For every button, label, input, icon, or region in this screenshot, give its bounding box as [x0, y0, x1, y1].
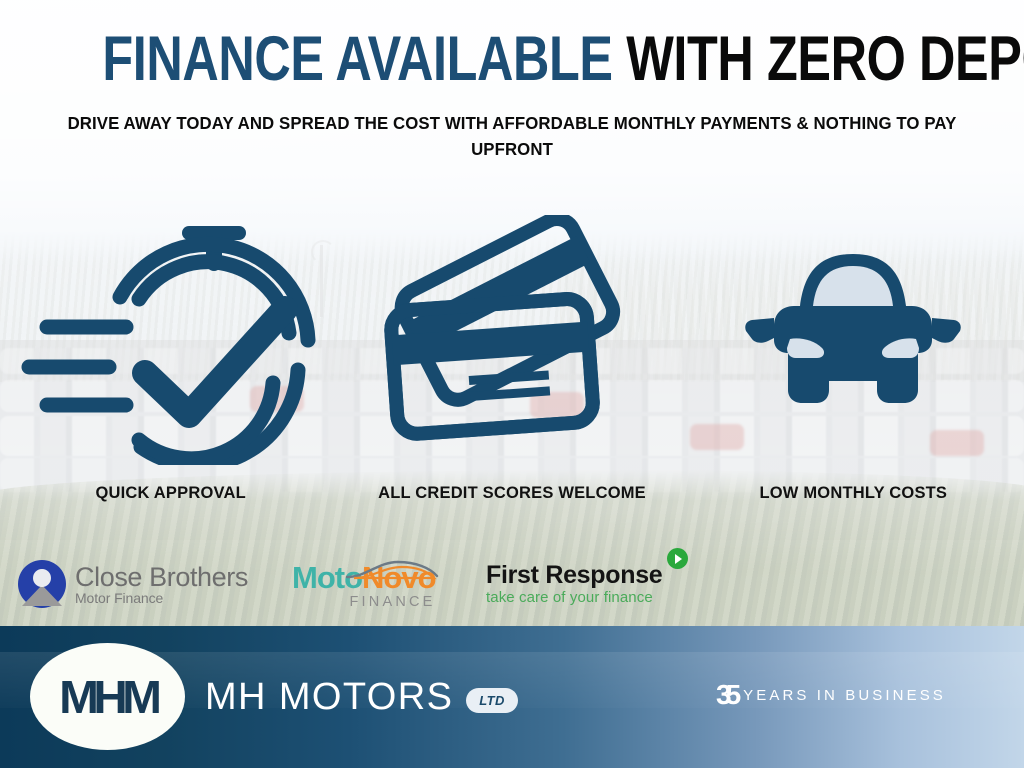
partner-name: First Response — [486, 561, 662, 589]
feature-low-monthly-costs: LOW MONTHLY COSTS — [683, 210, 1024, 503]
partner-name: Close Brothers — [75, 563, 248, 591]
finance-partner-logos: Close Brothers Motor Finance MotoNovo FI… — [0, 556, 1024, 622]
partner-subtitle: take care of your finance — [486, 589, 653, 606]
headline-secondary: WITH ZERO DEPOSIT — [626, 24, 1024, 94]
partner-subtitle: FINANCE — [349, 594, 435, 610]
stopwatch-check-icon — [21, 210, 321, 470]
mhm-monogram: MHM — [59, 670, 156, 724]
feature-list: QUICK APPROVAL — [0, 210, 1024, 503]
first-response-logo: First Response take care of your finance — [486, 562, 662, 606]
close-brothers-logo: Close Brothers Motor Finance — [18, 560, 248, 608]
feature-quick-approval: QUICK APPROVAL — [0, 210, 341, 503]
partner-subtitle: Motor Finance — [75, 591, 248, 606]
subheadline: DRIVE AWAY TODAY AND SPREAD THE COST WIT… — [42, 110, 983, 162]
credit-cards-icon — [372, 210, 652, 470]
feature-all-credit-scores: ALL CREDIT SCORES WELCOME — [341, 210, 682, 503]
mhm-oval-logo: MHM — [30, 643, 185, 750]
motonovo-car-swoosh-icon — [344, 558, 440, 582]
years-in-business: 35 YEARS IN BUSINESS — [716, 681, 946, 709]
years-label: YEARS IN BUSINESS — [743, 687, 946, 704]
car-front-icon — [738, 210, 968, 470]
ltd-badge: LTD — [466, 688, 518, 713]
feature-label: LOW MONTHLY COSTS — [759, 484, 947, 503]
headline: FINANCE AVAILABLE WITH ZERO DEPOSIT — [102, 28, 921, 91]
motonovo-logo: MotoNovo FINANCE — [292, 562, 436, 610]
ltd-badge-label: LTD — [479, 693, 505, 708]
feature-label: QUICK APPROVAL — [95, 484, 245, 503]
finance-promo-banner: FINANCE AVAILABLE WITH ZERO DEPOSIT DRIV… — [0, 0, 1024, 768]
feature-label: ALL CREDIT SCORES WELCOME — [378, 484, 646, 503]
play-arrow-icon — [667, 548, 688, 569]
years-number: 35 — [716, 681, 735, 709]
close-brothers-logo-icon — [18, 560, 66, 608]
headline-primary: FINANCE AVAILABLE — [102, 24, 626, 94]
company-name: MH MOTORS — [205, 676, 453, 719]
